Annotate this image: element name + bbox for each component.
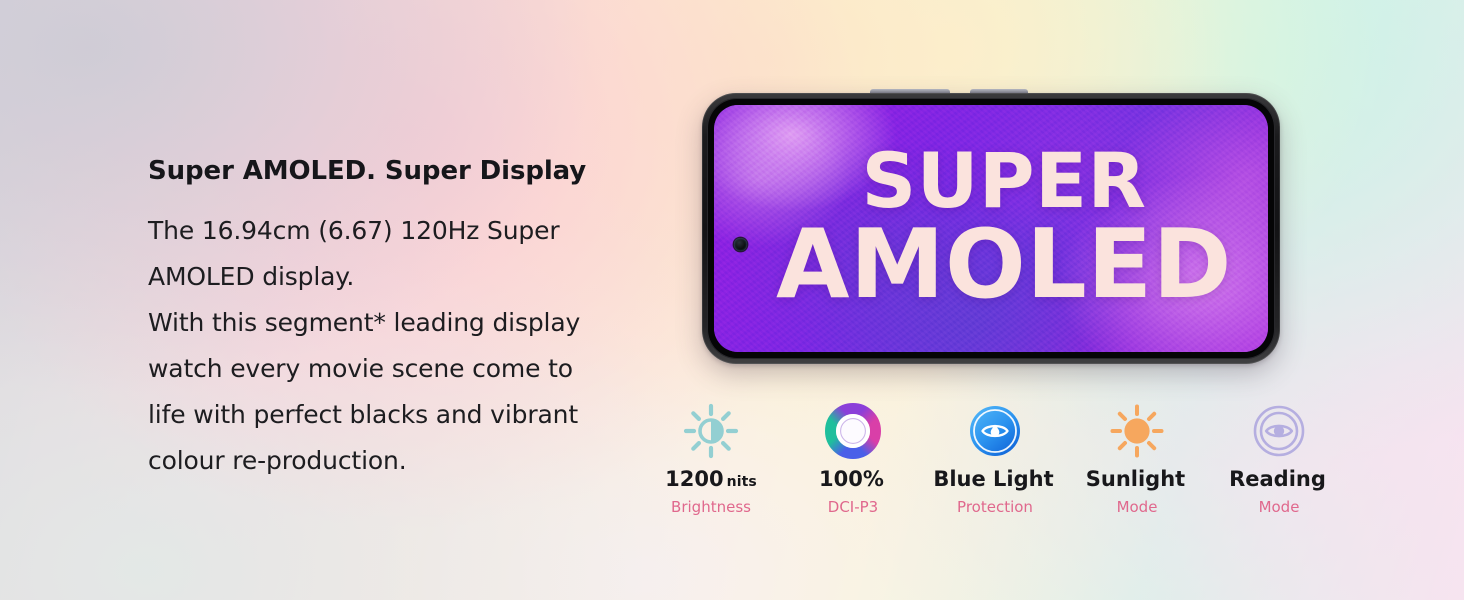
feature-item-dci-p3: 100% DCI-P3 — [782, 398, 924, 516]
feature-primary-label: Sunlight — [1086, 468, 1188, 492]
copy-block: Super AMOLED. Super Display The 16.94cm … — [148, 155, 648, 484]
description-line: The 16.94cm (6.67) 120Hz Super — [148, 208, 648, 254]
color-gamut-ring-icon — [824, 398, 882, 464]
description-line: life with perfect blacks and vibrant — [148, 392, 648, 438]
front-camera-punch-hole — [734, 238, 747, 251]
feature-primary-label: 100% — [819, 468, 887, 492]
feature-secondary-label: Brightness — [671, 498, 751, 516]
screen-headline-top: SUPER — [861, 145, 1146, 218]
feature-item-blue-light: Blue Light Protection — [924, 398, 1066, 516]
description-text: The 16.94cm (6.67) 120Hz Super AMOLED di… — [148, 208, 648, 484]
brightness-sun-icon — [682, 398, 740, 464]
feature-item-sunlight: Sunlight Mode — [1066, 398, 1208, 516]
feature-secondary-label: Mode — [1259, 498, 1300, 516]
description-line: watch every movie scene come to — [148, 346, 648, 392]
sunlight-sun-icon — [1108, 398, 1166, 464]
reading-eye-icon — [1250, 398, 1308, 464]
feature-primary-label: Reading — [1229, 468, 1329, 492]
feature-primary-label: 1200nits — [665, 468, 757, 492]
phone-screen: SUPER AMOLED — [714, 105, 1268, 352]
feature-secondary-label: Mode — [1117, 498, 1158, 516]
product-feature-banner: Super AMOLED. Super Display The 16.94cm … — [0, 0, 1464, 600]
feature-highlights-row: 1200nits Brightness — [640, 398, 1350, 516]
description-line: AMOLED display. — [148, 254, 648, 300]
phone-screen-text: SUPER AMOLED — [714, 105, 1268, 352]
phone-device: SUPER AMOLED — [702, 93, 1280, 364]
description-line: With this segment* leading display — [148, 300, 648, 346]
feature-item-brightness: 1200nits Brightness — [640, 398, 782, 516]
screen-headline-bottom: AMOLED — [776, 220, 1232, 311]
description-line: colour re-production. — [148, 438, 648, 484]
feature-secondary-label: Protection — [957, 498, 1033, 516]
blue-light-eye-icon — [966, 398, 1024, 464]
feature-primary-label: Blue Light — [933, 468, 1056, 492]
feature-item-reading: Reading Mode — [1208, 398, 1350, 516]
page-title: Super AMOLED. Super Display — [148, 155, 648, 189]
feature-unit-label: nits — [727, 474, 757, 490]
feature-secondary-label: DCI-P3 — [828, 498, 878, 516]
